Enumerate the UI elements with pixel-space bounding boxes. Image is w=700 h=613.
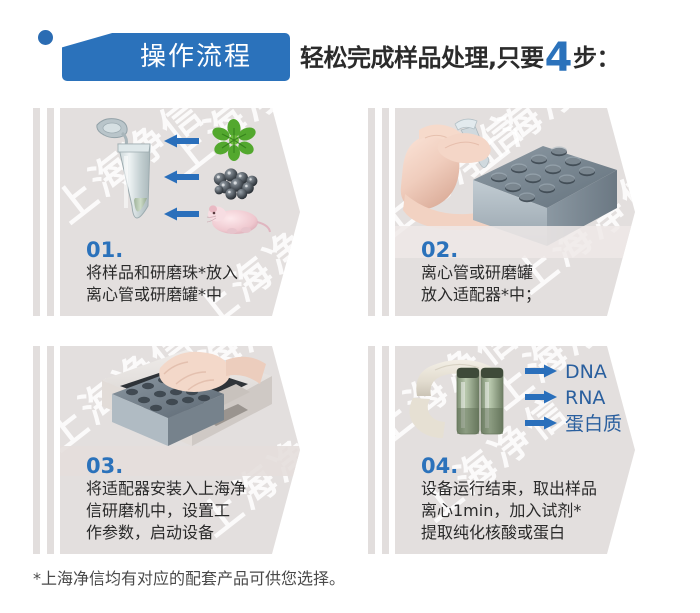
panel-body: 上海净信 上海净信 上海净信 bbox=[60, 108, 300, 316]
panel-accent-bar bbox=[382, 346, 389, 554]
tagline-text-after: 步： bbox=[573, 44, 620, 72]
step-text-line: 作参数，启动设备 bbox=[86, 522, 246, 544]
step-02-caption: 02. 离心管或研磨罐 放入适配器*中； bbox=[421, 238, 541, 306]
step-text-line: 设备运行结束，取出样品 bbox=[421, 478, 597, 500]
input-arrow bbox=[164, 135, 199, 148]
step-text-line: 将样品和研磨珠*放入 bbox=[86, 262, 238, 284]
step-panel-03: 上海净信 上海净信 上海净信 bbox=[33, 346, 300, 554]
footer-note: *上海净信均有对应的配套产品可供您选择。 bbox=[33, 565, 345, 589]
panel-accent-bar bbox=[368, 108, 375, 316]
step-text-line: 将适配器安装入上海净 bbox=[86, 478, 246, 500]
step-04-illustration: DNA RNA 蛋白质 bbox=[395, 346, 635, 464]
tagline-text-before: 轻松完成样品处理,只要 bbox=[300, 44, 544, 72]
page-header: 操作流程 轻松完成样品处理,只要4步： bbox=[0, 0, 700, 100]
step-number: 03. bbox=[86, 454, 246, 478]
step-panel-02: 上海净信 上海净信 上海净信 bbox=[368, 108, 635, 316]
input-arrow bbox=[164, 171, 199, 184]
step-panel-04: 上海净信 上海净信 上海净信 bbox=[368, 346, 635, 554]
header-accent-dot bbox=[38, 30, 53, 45]
output-label-protein: 蛋白质 bbox=[565, 414, 622, 434]
output-arrow bbox=[525, 391, 557, 404]
panel-accent-bar bbox=[368, 346, 375, 554]
panel-body: 上海净信 上海净信 上海净信 bbox=[60, 346, 300, 554]
step-panel-01: 上海净信 上海净信 上海净信 bbox=[33, 108, 300, 316]
step-text-line: 提取纯化核酸或蛋白 bbox=[421, 522, 597, 544]
step-text-line: 离心1min，加入试剂* bbox=[421, 500, 597, 522]
header-banner-label: 操作流程 bbox=[102, 38, 290, 76]
panel-body: 上海净信 上海净信 上海净信 bbox=[395, 346, 635, 554]
tube-cap-shape bbox=[97, 119, 127, 145]
output-arrow bbox=[525, 417, 557, 430]
step-04-caption: 04. 设备运行结束，取出样品 离心1min，加入试剂* 提取纯化核酸或蛋白 bbox=[421, 454, 597, 544]
step-text-line: 放入适配器*中； bbox=[421, 284, 541, 306]
step-text-line: 信研磨机中，设置工 bbox=[86, 500, 246, 522]
mouse-icon bbox=[207, 205, 270, 234]
output-arrow bbox=[525, 365, 557, 378]
step-number: 04. bbox=[421, 454, 597, 478]
tagline-step-count: 4 bbox=[544, 35, 573, 81]
step-number: 01. bbox=[86, 238, 238, 262]
step-number: 02. bbox=[421, 238, 541, 262]
step-03-caption: 03. 将适配器安装入上海净 信研磨机中，设置工 作参数，启动设备 bbox=[86, 454, 246, 544]
panel-accent-bar bbox=[47, 346, 54, 554]
step-text-line: 离心管或研磨罐*中 bbox=[86, 284, 238, 306]
panel-accent-bar bbox=[382, 108, 389, 316]
panel-accent-bar bbox=[33, 346, 40, 554]
step-01-illustration bbox=[60, 108, 300, 256]
input-arrow bbox=[164, 208, 199, 221]
step-text-line: 离心管或研磨罐 bbox=[421, 262, 541, 284]
header-tagline: 轻松完成样品处理,只要4步： bbox=[300, 38, 620, 78]
step-02-illustration bbox=[395, 108, 635, 258]
output-label-dna: DNA bbox=[565, 362, 607, 382]
centrifuge-tube-shape bbox=[118, 144, 150, 218]
panel-body: 上海净信 上海净信 上海净信 bbox=[395, 108, 635, 316]
step-01-caption: 01. 将样品和研磨珠*放入 离心管或研磨罐*中 bbox=[86, 238, 238, 306]
panel-accent-bar bbox=[33, 108, 40, 316]
grinding-beads-icon bbox=[214, 168, 258, 199]
output-label-rna: RNA bbox=[565, 388, 605, 408]
leaf-icon bbox=[210, 118, 257, 161]
panel-accent-bar bbox=[47, 108, 54, 316]
